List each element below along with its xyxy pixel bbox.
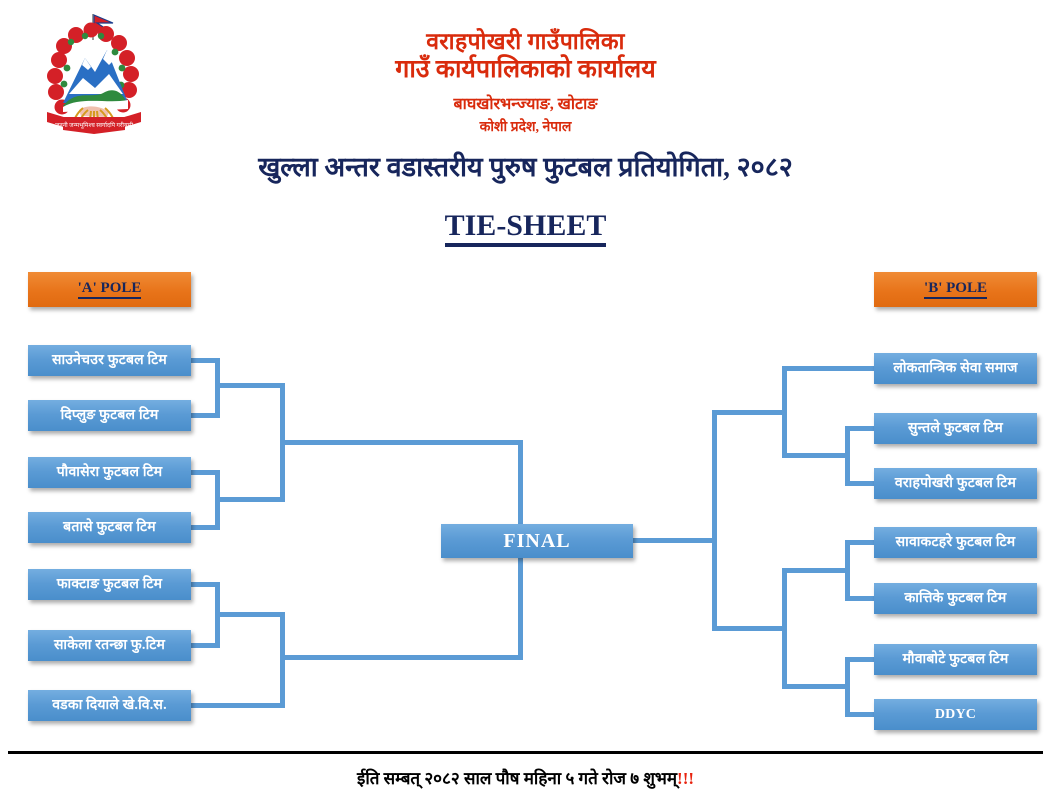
team-box-a3[interactable]: पौवासेरा फुटबल टिम <box>28 457 191 488</box>
sheet-title: TIE-SHEET <box>445 210 607 247</box>
connector-b-to-final <box>632 538 717 543</box>
team-label: DDYC <box>935 708 976 722</box>
team-label: पौवासेरा फुटबल टिम <box>57 466 163 480</box>
connector-a-semi-lower-vertical <box>280 612 285 708</box>
connector-a4-stub <box>190 703 285 708</box>
tournament-bracket: 'A' POLE 'B' POLE <box>0 250 1051 750</box>
team-box-a1[interactable]: साउनेचउर फुटबल टिम <box>28 345 191 376</box>
connector-b0-stub <box>782 366 875 371</box>
team-label: सावाकटहरे फुटबल टिम <box>896 536 1016 550</box>
team-label: वडका दियाले खे.वि.स. <box>52 699 167 713</box>
connector-a3-out <box>215 612 285 617</box>
team-label: मौवाबोटे फुटबल टिम <box>903 653 1009 667</box>
team-box-b7[interactable]: DDYC <box>874 699 1037 730</box>
connector-b2-out <box>782 568 850 573</box>
connector-b-semi-lower-out <box>712 626 787 631</box>
organization-line-2: गाउँ कार्यपालिकाको कार्यालय <box>0 55 1051 85</box>
footer-text: ईति सम्बत् २०८२ साल पौष महिना ५ गते रोज … <box>0 766 1051 789</box>
address-line-1: बाघखोरभन्ज्याङ, खोटाङ <box>0 92 1051 114</box>
connector-b1-out <box>782 453 850 458</box>
pole-a-header: 'A' POLE <box>28 272 191 307</box>
connector-a-semi-lower-out <box>280 655 523 660</box>
team-label: बतासे फुटबल टिम <box>63 521 156 535</box>
footer-exclaim: !!! <box>677 769 694 788</box>
team-box-b5[interactable]: कात्तिके फुटबल टिम <box>874 583 1037 614</box>
footer-divider <box>8 751 1043 754</box>
connector-a-semi-upper-out <box>280 440 523 445</box>
final-box[interactable]: FINAL <box>441 524 633 558</box>
connector-a1-vertical <box>215 358 220 418</box>
pole-a-label: 'A' POLE <box>78 280 142 299</box>
final-label: FINAL <box>503 531 570 551</box>
footer-date-label: ईति सम्बत् २०८२ साल पौष महिना ५ गते रोज … <box>357 769 677 788</box>
event-title: खुल्ला अन्तर वडास्तरीय पुरुष फुटबल प्रति… <box>0 147 1051 184</box>
tie-sheet-page: जननी जन्मभूमिश्च स्वर्गादपि गरीयसी वराहप… <box>0 0 1051 802</box>
team-label: लोकतान्त्रिक सेवा समाज <box>893 362 1017 376</box>
connector-b-spine <box>712 410 717 631</box>
team-label: साउनेचउर फुटबल टिम <box>52 354 167 368</box>
team-box-b2[interactable]: सुन्तले फुटबल टिम <box>874 413 1037 444</box>
team-label: सुन्तले फुटबल टिम <box>908 422 1003 436</box>
team-box-b4[interactable]: सावाकटहरे फुटबल टिम <box>874 527 1037 558</box>
team-box-a2[interactable]: दिप्लुङ फुटबल टिम <box>28 400 191 431</box>
team-box-a5[interactable]: फाक्टाङ फुटबल टिम <box>28 569 191 600</box>
team-box-b1[interactable]: लोकतान्त्रिक सेवा समाज <box>874 353 1037 384</box>
pole-b-header: 'B' POLE <box>874 272 1037 307</box>
team-box-b6[interactable]: मौवाबोटे फुटबल टिम <box>874 644 1037 675</box>
team-label: फाक्टाङ फुटबल टिम <box>57 578 162 592</box>
team-box-a4[interactable]: बतासे फुटबल टिम <box>28 512 191 543</box>
connector-b3-out <box>782 684 850 689</box>
team-box-b3[interactable]: वराहपोखरी फुटबल टिम <box>874 468 1037 499</box>
team-label: वराहपोखरी फुटबल टिम <box>895 477 1016 491</box>
team-label: साकेला रतन्छा फु.टिम <box>54 639 165 653</box>
pole-b-label: 'B' POLE <box>924 280 987 299</box>
team-label: कात्तिके फुटबल टिम <box>904 592 1006 606</box>
team-box-a6[interactable]: साकेला रतन्छा फु.टिम <box>28 630 191 661</box>
team-box-a7[interactable]: वडका दियाले खे.वि.स. <box>28 690 191 721</box>
address-line-2: कोशी प्रदेश, नेपाल <box>0 117 1051 136</box>
page-header: वराहपोखरी गाउँपालिका गाउँ कार्यपालिकाको … <box>0 0 1051 247</box>
organization-line-1: वराहपोखरी गाउँपालिका <box>0 28 1051 55</box>
connector-b-semi-upper-out <box>712 410 787 415</box>
connector-a2-out <box>215 497 285 502</box>
team-label: दिप्लुङ फुटबल टिम <box>61 409 159 423</box>
connector-a1-out <box>215 383 285 388</box>
